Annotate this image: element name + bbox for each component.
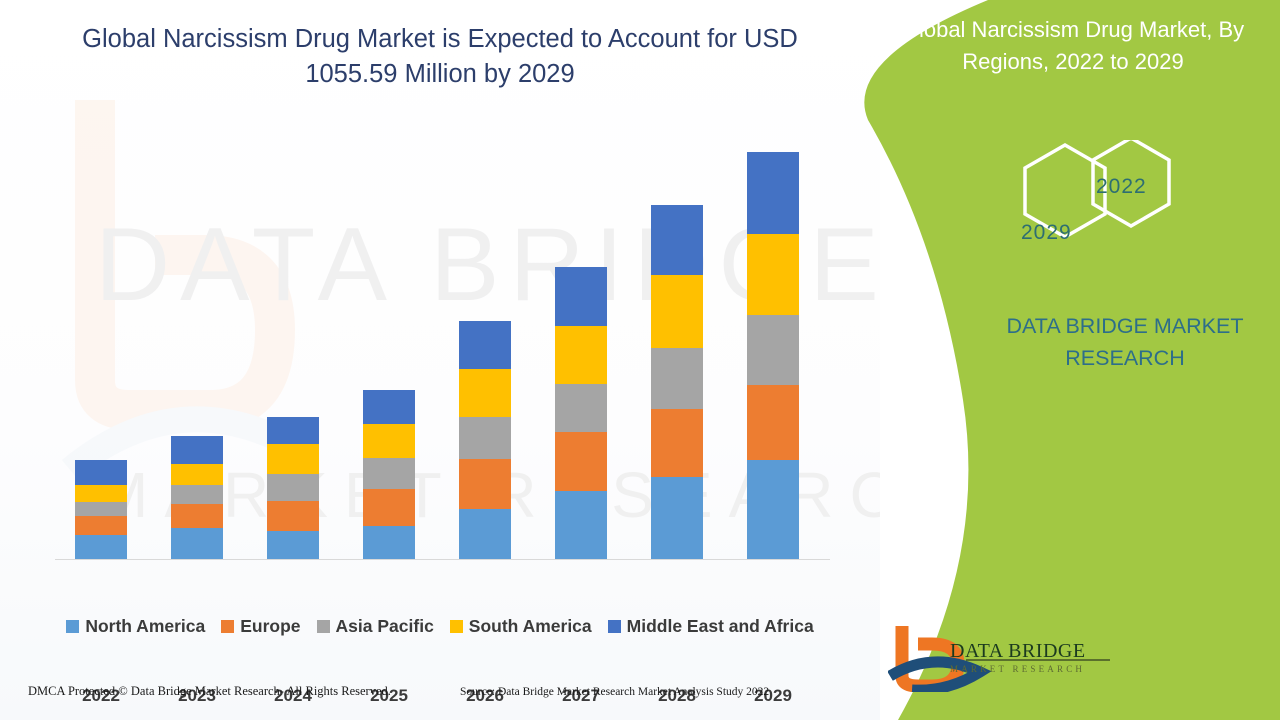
bar-segment[interactable]	[75, 535, 127, 559]
bar-segment[interactable]	[651, 275, 703, 347]
legend-swatch-icon	[317, 620, 330, 633]
bar-segment[interactable]	[363, 526, 415, 559]
bar-segment[interactable]	[555, 326, 607, 384]
legend-swatch-icon	[450, 620, 463, 633]
bar-segment[interactable]	[459, 509, 511, 559]
legend-label: Asia Pacific	[336, 616, 434, 637]
bar-segment[interactable]	[747, 385, 799, 461]
brand-panel-title: Global Narcissism Drug Market, By Region…	[878, 14, 1268, 78]
logo-wordmark: DATA BRIDGE MARKET RESEARCH	[950, 640, 1110, 674]
bar-segment[interactable]	[363, 424, 415, 458]
hexagon-label-2022: 2022	[1096, 175, 1147, 199]
bar-segment[interactable]	[75, 485, 127, 503]
bar-segment[interactable]	[459, 321, 511, 368]
bar-2029[interactable]	[747, 152, 799, 559]
bar-segment[interactable]	[747, 234, 799, 315]
legend-item[interactable]: Middle East and Africa	[608, 616, 814, 637]
bar-segment[interactable]	[171, 436, 223, 463]
logo-word-bottom: MARKET RESEARCH	[950, 664, 1110, 674]
dmca-notice: DMCA Protected © Data Bridge Market Rese…	[28, 684, 391, 699]
bar-2025[interactable]	[363, 390, 415, 559]
legend-label: South America	[469, 616, 592, 637]
bar-segment[interactable]	[555, 432, 607, 491]
bar-segment[interactable]	[267, 417, 319, 444]
chart-panel: DATA BRIDGE MARKET RESEARCH Global Narci…	[0, 0, 880, 720]
bar-segment[interactable]	[363, 489, 415, 526]
bar-segment[interactable]	[267, 444, 319, 474]
bar-segment[interactable]	[459, 417, 511, 460]
legend-item[interactable]: Asia Pacific	[317, 616, 434, 637]
bar-2022[interactable]	[75, 460, 127, 559]
brand-name-line-1: DATA BRIDGE MARKET	[960, 310, 1280, 342]
legend-label: Middle East and Africa	[627, 616, 814, 637]
bar-2028[interactable]	[651, 205, 703, 559]
bar-segment[interactable]	[171, 464, 223, 485]
bar-2024[interactable]	[267, 417, 319, 559]
bar-segment[interactable]	[651, 409, 703, 477]
bar-segment[interactable]	[747, 152, 799, 234]
bar-segment[interactable]	[363, 390, 415, 424]
page-title: Global Narcissism Drug Market is Expecte…	[60, 22, 820, 92]
bar-segment[interactable]	[747, 460, 799, 559]
bar-segment[interactable]	[459, 369, 511, 417]
chart-legend: North AmericaEuropeAsia PacificSouth Ame…	[0, 616, 880, 637]
legend-label: Europe	[240, 616, 300, 637]
bar-segment[interactable]	[555, 267, 607, 326]
bar-segment[interactable]	[651, 477, 703, 559]
brand-name: DATA BRIDGE MARKET RESEARCH	[960, 310, 1280, 374]
bar-segment[interactable]	[747, 315, 799, 385]
bar-segment[interactable]	[651, 205, 703, 275]
bar-segment[interactable]	[75, 460, 127, 484]
bar-segment[interactable]	[459, 459, 511, 508]
bar-segment[interactable]	[555, 384, 607, 432]
bar-segment[interactable]	[75, 516, 127, 535]
legend-swatch-icon	[66, 620, 79, 633]
bar-segment[interactable]	[171, 504, 223, 528]
footer: DMCA Protected © Data Bridge Market Rese…	[0, 684, 880, 714]
legend-item[interactable]: North America	[66, 616, 205, 637]
bar-segment[interactable]	[555, 491, 607, 559]
legend-item[interactable]: Europe	[221, 616, 300, 637]
bar-2026[interactable]	[459, 321, 511, 559]
legend-swatch-icon	[608, 620, 621, 633]
bar-2027[interactable]	[555, 267, 607, 559]
bar-segment[interactable]	[267, 531, 319, 559]
legend-label: North America	[85, 616, 205, 637]
bar-segment[interactable]	[171, 485, 223, 505]
brand-name-line-2: RESEARCH	[960, 342, 1280, 374]
bar-2023[interactable]	[171, 436, 223, 559]
hexagon-label-2029: 2029	[1021, 221, 1072, 245]
bar-segment[interactable]	[363, 458, 415, 489]
source-note: Source: Data Bridge Market Research Mark…	[460, 686, 769, 698]
plot-area: 20222023202420252026202720282029	[55, 120, 830, 560]
bar-segment[interactable]	[267, 474, 319, 501]
x-axis-line	[55, 559, 830, 560]
legend-item[interactable]: South America	[450, 616, 592, 637]
legend-swatch-icon	[221, 620, 234, 633]
bar-segment[interactable]	[267, 501, 319, 531]
logo-word-top: DATA BRIDGE	[950, 640, 1110, 663]
hexagon-pair	[975, 140, 1195, 275]
bar-segment[interactable]	[171, 528, 223, 559]
bar-segment[interactable]	[651, 348, 703, 409]
bar-segment[interactable]	[75, 502, 127, 516]
